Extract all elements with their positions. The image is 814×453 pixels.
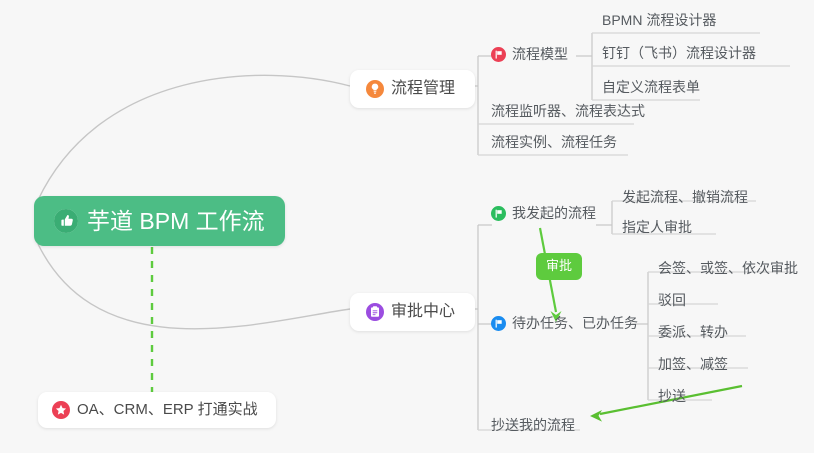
flag-icon bbox=[491, 316, 506, 331]
leaf-add-remove-sign[interactable]: 加签、减签 bbox=[656, 354, 734, 376]
star-icon bbox=[52, 401, 70, 419]
branch-label: 审批中心 bbox=[391, 303, 455, 321]
leaf-dingtalk-designer[interactable]: 钉钉（飞书）流程设计器 bbox=[600, 43, 762, 65]
leaf-label: 流程监听器、流程表达式 bbox=[491, 103, 645, 119]
leaf-countersign-approval[interactable]: 会签、或签、依次审批 bbox=[656, 258, 804, 280]
leaf-label: 驳回 bbox=[658, 292, 686, 308]
branch-node-process-management[interactable]: 流程管理 bbox=[350, 70, 475, 108]
branch-label: 流程管理 bbox=[391, 80, 455, 98]
clipboard-icon bbox=[366, 303, 384, 321]
footnote-node-integration[interactable]: OA、CRM、ERP 打通实战 bbox=[38, 392, 276, 428]
mindmap-canvas: 芋道 BPM 工作流 流程管理 流程模型 BPMN 流程设计器 钉钉（飞书）流程 bbox=[0, 0, 814, 453]
leaf-label: 自定义流程表单 bbox=[602, 79, 700, 95]
leaf-label: 抄送我的流程 bbox=[491, 417, 575, 433]
footnote-label: OA、CRM、ERP 打通实战 bbox=[77, 401, 258, 418]
leaf-custom-form[interactable]: 自定义流程表单 bbox=[600, 77, 706, 99]
leaf-assignee-approval[interactable]: 指定人审批 bbox=[620, 217, 698, 239]
leaf-reject[interactable]: 驳回 bbox=[656, 290, 692, 312]
leaf-label: 指定人审批 bbox=[622, 219, 692, 235]
annotation-tag-label: 审批 bbox=[546, 259, 572, 274]
leaf-delegate-transfer[interactable]: 委派、转办 bbox=[656, 322, 734, 344]
leaf-label: 发起流程、撤销流程 bbox=[622, 189, 748, 205]
leaf-label: 加签、减签 bbox=[658, 356, 728, 372]
flag-icon bbox=[491, 206, 506, 221]
leaf-cc-to-me-processes[interactable]: 抄送我的流程 bbox=[489, 415, 581, 437]
lightbulb-icon bbox=[366, 80, 384, 98]
leaf-listener-expression[interactable]: 流程监听器、流程表达式 bbox=[489, 101, 651, 123]
leaf-start-cancel-process[interactable]: 发起流程、撤销流程 bbox=[620, 187, 754, 209]
annotation-tag-approval: 审批 bbox=[536, 253, 582, 280]
node-label: 流程模型 bbox=[512, 46, 568, 62]
root-label: 芋道 BPM 工作流 bbox=[87, 208, 265, 234]
node-label: 我发起的流程 bbox=[512, 205, 596, 221]
leaf-label: 钉钉（飞书）流程设计器 bbox=[602, 45, 756, 61]
root-node[interactable]: 芋道 BPM 工作流 bbox=[34, 196, 285, 246]
leaf-label: 流程实例、流程任务 bbox=[491, 134, 617, 150]
leaf-instance-task[interactable]: 流程实例、流程任务 bbox=[489, 132, 623, 154]
leaf-label: 会签、或签、依次审批 bbox=[658, 260, 798, 276]
branch-node-approval-center[interactable]: 审批中心 bbox=[350, 293, 475, 331]
flag-icon bbox=[491, 47, 506, 62]
leaf-label: 委派、转办 bbox=[658, 324, 728, 340]
node-label: 待办任务、已办任务 bbox=[512, 315, 638, 331]
thumbs-up-icon bbox=[54, 209, 78, 233]
node-my-initiated-processes[interactable]: 我发起的流程 bbox=[489, 203, 602, 225]
leaf-label: 抄送 bbox=[658, 388, 686, 404]
node-todo-done-tasks[interactable]: 待办任务、已办任务 bbox=[489, 313, 644, 335]
leaf-cc[interactable]: 抄送 bbox=[656, 386, 692, 408]
leaf-label: BPMN 流程设计器 bbox=[602, 12, 716, 28]
node-process-model[interactable]: 流程模型 bbox=[489, 44, 574, 66]
leaf-bpmn-designer[interactable]: BPMN 流程设计器 bbox=[600, 10, 722, 32]
